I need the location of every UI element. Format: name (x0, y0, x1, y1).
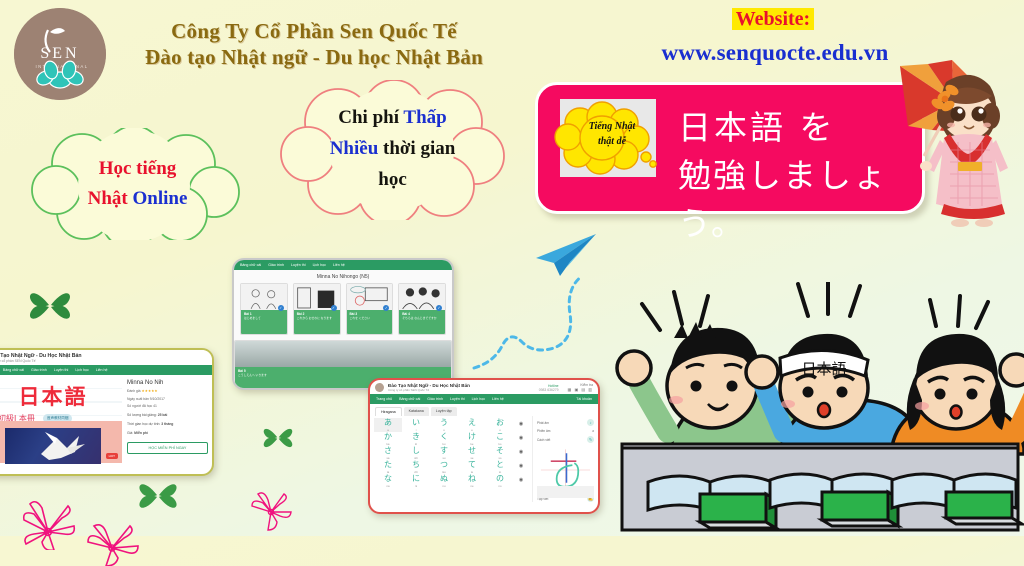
hotline-number: 0983 636279 (539, 388, 559, 392)
kana-char: の (486, 474, 514, 484)
company-title-line1: Công Ty Cổ Phần Sen Quốc Tế (108, 18, 520, 44)
enroll-free-button[interactable]: HỌC MIỄN PHÍ NGAY (127, 442, 208, 454)
device-a-header: Đào Tạo Nhật Ngữ - Du Học Nhật Bản Công … (0, 350, 212, 365)
hotline-block[interactable]: Hotline 0983 636279 (539, 384, 559, 392)
kana-cell[interactable]: と to (486, 460, 514, 474)
kana-char: ぬ (430, 474, 458, 484)
device-c-header: Đào Tạo Nhật Ngữ - Du Học Nhật Bản Công … (370, 380, 598, 394)
side-option-label: Phát âm (537, 421, 549, 425)
kana-char: と (486, 460, 514, 470)
excitement-lines (642, 282, 988, 330)
feature-2-value: 3 tháng (161, 422, 173, 426)
bubble-left-line2b: Online (132, 188, 187, 209)
device-b-nav-1[interactable]: Giáo trình (268, 263, 284, 267)
kana-cell[interactable]: て te (458, 460, 486, 474)
kana-cell[interactable]: い i (402, 418, 430, 432)
audio-icon[interactable]: ◉ (514, 474, 528, 487)
kana-row: さ sa し shi す su せ se そ so ◉ (374, 446, 528, 460)
kana-char: ね (458, 474, 486, 484)
rating-stars: ★★★★★ (142, 389, 158, 393)
feature-3-label: Giá: (127, 431, 133, 435)
kana-cell[interactable]: え e (458, 418, 486, 432)
lesson-body: ✓ Bài 4 そちらは なんじまでですか (399, 310, 445, 334)
device-c-nav-5[interactable]: Liên hệ (492, 397, 504, 401)
rating-label: Đánh giá (127, 389, 141, 393)
kana-char: あ (374, 418, 402, 428)
svg-text:INTERNATIONAL: INTERNATIONAL (35, 64, 88, 69)
kana-cell[interactable]: な na (374, 474, 402, 488)
course-rating-row: Đánh giá ★★★★★ (127, 389, 208, 394)
check-icon: ✓ (278, 305, 284, 311)
side-option-row[interactable]: Cách viết ✎ (537, 436, 594, 443)
lesson-card[interactable]: ✓ Bài 3 これを ください (346, 283, 394, 335)
poster-canvas: SEN INTERNATIONAL Công Ty Cổ Phần Sen Qu… (0, 0, 1024, 536)
device-c-nav-account[interactable]: Tài khoản (576, 397, 592, 401)
kana-char: く (430, 432, 458, 442)
company-title: Công Ty Cổ Phần Sen Quốc Tế Đào tạo Nhật… (108, 18, 520, 70)
device-c-nav-0[interactable]: Trang chủ (376, 397, 392, 401)
pen-icon[interactable]: ✎ (587, 436, 594, 443)
kana-char: き (402, 432, 430, 442)
practice-area[interactable] (537, 486, 594, 498)
clover-icon (258, 418, 298, 458)
device-c-nav-2[interactable]: Giáo trình (427, 397, 443, 401)
device-c-nav-1[interactable]: Bảng chữ cái (399, 397, 420, 401)
device-a-nav-5[interactable]: Liên hệ (96, 368, 108, 372)
bubble-left-line1: Học tiếng (99, 158, 177, 179)
kana-romaji: no (486, 484, 514, 488)
audio-icon[interactable]: ◉ (514, 446, 528, 459)
kana-char: う (430, 418, 458, 428)
website-label: Website: (628, 8, 918, 31)
social-icons[interactable]: ▦ ▣ ▤ ▥ (568, 387, 593, 392)
kana-char: こ (486, 432, 514, 442)
kana-char: ち (402, 460, 430, 470)
lesson-body: ✓ Bài 1 はじめまして (241, 310, 287, 334)
bubble-hoc-tieng-nhat: Học tiếng Nhật Online (30, 128, 245, 240)
bubble-mid-line1b: Thấp (403, 107, 446, 128)
feature-1-value: 25 bài (158, 413, 168, 417)
course-learners: Số người đã học 41 (127, 404, 208, 409)
device-a-nav-2[interactable]: Giáo trình (31, 368, 47, 372)
device-c-nav[interactable]: Trang chủ Bảng chữ cái Giáo trình Luyện … (370, 394, 598, 404)
kana-romaji: nu (430, 484, 458, 488)
website-label-text: Website: (732, 8, 814, 30)
kana-cell[interactable]: た ta (374, 460, 402, 474)
lesson-desc: これを ください (350, 317, 390, 320)
check-icon: ✓ (436, 305, 442, 311)
bubble-mid-text: Chi phí Thấp Nhiều thời gian học (280, 102, 505, 195)
device-c-site-sub: Công ty cổ phần SEN Quốc Tế (388, 388, 470, 392)
kana-cell[interactable]: ぬ nu (430, 474, 458, 488)
lesson-desc: こうしえんへ いきます (238, 374, 448, 377)
kana-char: お (486, 418, 514, 428)
sen-logo-small (375, 383, 384, 392)
thought-line-2: thật dễ (560, 134, 664, 149)
speaker-icon[interactable]: ♪ (587, 419, 594, 426)
kana-char: か (374, 432, 402, 442)
kana-cell[interactable]: う u (430, 418, 458, 432)
bubble-left-line2a: Nhật (88, 188, 133, 209)
bubble-mid-line2b: thời gian (378, 138, 455, 159)
kana-romaji: ni (402, 484, 430, 488)
lesson-grid-row-1: ✓ Bài 1 はじめまして ✓ Bài 2 これから おせわに なります (234, 283, 452, 335)
course-feature-1: Số lượng bài giảng: 25 bài (127, 413, 208, 418)
device-a-body: 日本語 初級Ⅰ 本冊 音声教材同梱 HOT Minna No Nih (0, 375, 212, 463)
clover-icon (132, 470, 184, 522)
audio-icon[interactable]: ◉ (514, 432, 528, 445)
device-c-nav-4[interactable]: Lịch học (472, 397, 485, 401)
lesson-body: ✓ Bài 3 これを ください (347, 310, 393, 334)
kana-char: せ (458, 446, 486, 456)
kana-char: て (458, 460, 486, 470)
bubble-mid-line1a: Chi phí (338, 107, 403, 128)
screenshot-lesson-list[interactable]: Bảng chữ cái Giáo trình Luyện thi Lịch h… (232, 258, 454, 390)
kana-row: か ka き ki く ku け ke こ ko ◉ (374, 432, 528, 446)
course-title: Minna No Nih (127, 380, 208, 386)
kana-char: え (458, 418, 486, 428)
course-info-panel: Minna No Nih Đánh giá ★★★★★ Ngày xuất bả… (122, 375, 212, 463)
kana-cell[interactable]: き ki (402, 432, 430, 446)
feature-1-label: Số lượng bài giảng: (127, 413, 157, 417)
kana-char: つ (430, 460, 458, 470)
side-option-label: Cách viết (537, 438, 550, 442)
lesson-desc: はじめまして (244, 317, 284, 320)
device-a-nav-1[interactable]: Bảng chữ cái (3, 368, 24, 372)
audio-icon[interactable]: ◉ (514, 418, 528, 431)
device-b-nav[interactable]: Bảng chữ cái Giáo trình Luyện thi Lịch h… (234, 260, 452, 270)
kana-char: た (374, 460, 402, 470)
kana-table[interactable]: あ a い i う u え e お o ◉ (370, 416, 532, 502)
kana-cell[interactable]: せ se (458, 446, 486, 460)
kana-cell[interactable]: か ka (374, 432, 402, 446)
lesson-card[interactable]: ✓ Bài 4 そちらは なんじまでですか (398, 283, 446, 335)
tab-luyen-tap[interactable]: Luyện tập (431, 407, 457, 416)
thought-line-1: Tiếng Nhật (560, 119, 664, 134)
kana-cell[interactable]: ち chi (402, 460, 430, 474)
textbook-kanji-title: 日本語 (0, 381, 122, 411)
kimono-girl-illustration (898, 38, 1024, 238)
check-icon: ✓ (383, 305, 389, 311)
kana-side-panel: Phát âm ♪ Phiên âm a Cách viết ✎ (532, 416, 598, 502)
lesson-list-title: Minna No Nihongo (N5) (234, 270, 452, 283)
lesson-card[interactable]: ✓ Bài 1 はじめまして (240, 283, 288, 335)
feature-3-value: Miễn phí (134, 431, 148, 435)
kana-char: そ (486, 446, 514, 456)
device-c-nav-3[interactable]: Luyện thi (450, 397, 465, 401)
kana-char: に (402, 474, 430, 484)
japanese-text-line2: 勉強しましょう。 (678, 149, 922, 245)
tab-katakana[interactable]: Katakana (404, 407, 429, 416)
bubble-mid-line2a: Nhiều (330, 138, 379, 159)
clover-icon (22, 278, 78, 334)
kana-body: あ a い i う u え e お o ◉ (370, 416, 598, 502)
audio-icon[interactable]: ◉ (514, 460, 528, 473)
feature-2-label: Thời gian học dự tính: (127, 422, 160, 426)
kana-char: な (374, 474, 402, 484)
kana-cell[interactable]: く ku (430, 432, 458, 446)
course-publish-date: Ngày xuất bản 9/10/2017 (127, 397, 208, 402)
kana-char: け (458, 432, 486, 442)
side-option-value: a (592, 429, 594, 433)
plane-trail (470, 270, 610, 380)
sen-logo: SEN INTERNATIONAL (14, 8, 106, 100)
side-option-label: Phiên âm (537, 429, 550, 433)
kana-cell[interactable]: し shi (402, 446, 430, 460)
cover-photo (5, 428, 101, 464)
textbook-cover: 日本語 初級Ⅰ 本冊 音声教材同梱 HOT (0, 375, 122, 463)
device-b-nav-3[interactable]: Lịch học (313, 263, 326, 267)
kana-cell[interactable]: す su (430, 446, 458, 460)
device-a-nav-3[interactable]: Luyện thi (54, 368, 69, 372)
tab-hiragana[interactable]: Hiragana (375, 407, 402, 416)
device-a-nav-4[interactable]: Lịch học (75, 368, 88, 372)
kana-cell[interactable]: あ a (374, 418, 402, 432)
kana-cell[interactable]: の no (486, 474, 514, 488)
thought-bubble-box: Tiếng Nhật thật dễ (560, 99, 656, 177)
lesson-desc: これから おせわに なります (297, 317, 337, 320)
device-b-nav-2[interactable]: Luyện thi (291, 263, 306, 267)
kana-romaji: na (374, 484, 402, 488)
kana-cell[interactable]: に ni (402, 474, 430, 488)
kana-row: あ a い i う u え e お o ◉ (374, 418, 528, 432)
lesson-body: ✓ Bài 2 これから おせわに なります (294, 310, 340, 334)
sandals-icon (951, 219, 993, 227)
kana-tabs[interactable]: Hiragana Katakana Luyện tập (370, 404, 598, 416)
japanese-text-line1: 日本語 を (678, 101, 836, 149)
kana-char: し (402, 446, 430, 456)
student-right (892, 334, 1024, 454)
kana-char: い (402, 418, 430, 428)
lesson-card[interactable]: ✓ Bài 2 これから おせわに なります (293, 283, 341, 335)
device-a-nav[interactable]: chủ Bảng chữ cái Giáo trình Luyện thi Lị… (0, 365, 212, 375)
paper-plane-icon (530, 232, 600, 278)
device-a-site-sub: Công ty cổ phần SEN Quốc Tế (0, 359, 82, 363)
flower-outline-icon (246, 488, 296, 532)
device-b-nav-0[interactable]: Bảng chữ cái (240, 263, 261, 267)
check-icon: ✓ (331, 305, 337, 311)
svg-text:SEN: SEN (40, 45, 79, 62)
lesson-desc: そちらは なんじまでですか (402, 317, 442, 320)
kana-row: た ta ち chi つ tsu て te と to ◉ (374, 460, 528, 474)
bubble-chi-phi-thap: Chi phí Thấp Nhiều thời gian học (280, 80, 505, 220)
kana-cell[interactable]: そ so (486, 446, 514, 460)
kana-cell[interactable]: さ sa (374, 446, 402, 460)
side-option-row[interactable]: Phát âm ♪ (537, 419, 594, 426)
company-title-line2: Đào tạo Nhật ngữ - Du học Nhật Bản (108, 44, 520, 70)
lotus-logo-icon: SEN INTERNATIONAL (14, 8, 106, 100)
bubble-left-text: Học tiếng Nhật Online (30, 154, 245, 214)
screenshot-kana-chart[interactable]: Đào Tạo Nhật Ngữ - Du Học Nhật Bản Công … (368, 378, 600, 514)
kana-cell[interactable]: お o (486, 418, 514, 432)
course-feature-3: Giá: Miễn phí (127, 431, 208, 436)
kana-cell[interactable]: つ tsu (430, 460, 458, 474)
kana-row: な na に ni ぬ nu ね ne の no ◉ (374, 474, 528, 488)
crane-icon (5, 428, 101, 464)
kana-cell[interactable]: け ke (458, 432, 486, 446)
bubble-mid-line3: học (378, 169, 407, 190)
kana-cell[interactable]: こ ko (486, 432, 514, 446)
flower-outline-icon (8, 492, 88, 550)
device-b-nav-4[interactable]: Liên hệ (333, 263, 345, 267)
hot-badge: HOT (106, 453, 118, 459)
thought-bubble-text: Tiếng Nhật thật dễ (560, 119, 664, 149)
kana-cell[interactable]: ね ne (458, 474, 486, 488)
kana-char: す (430, 446, 458, 456)
screenshot-course-detail[interactable]: Đào Tạo Nhật Ngữ - Du Học Nhật Bản Công … (0, 348, 214, 476)
lesson-thumb (235, 341, 451, 367)
kana-romaji: ne (458, 484, 486, 488)
japanese-banner: Tiếng Nhật thật dễ 日本語 を 勉強しましょう。 (535, 82, 925, 214)
course-feature-2: Thời gian học dự tính: 3 tháng (127, 422, 208, 427)
lesson-number: Bài 5 (238, 369, 448, 373)
students-illustration: 日本語 (612, 282, 1024, 536)
side-option-row[interactable]: Phiên âm a (537, 429, 594, 433)
flower-outline-icon (78, 520, 148, 566)
kana-char: さ (374, 446, 402, 456)
